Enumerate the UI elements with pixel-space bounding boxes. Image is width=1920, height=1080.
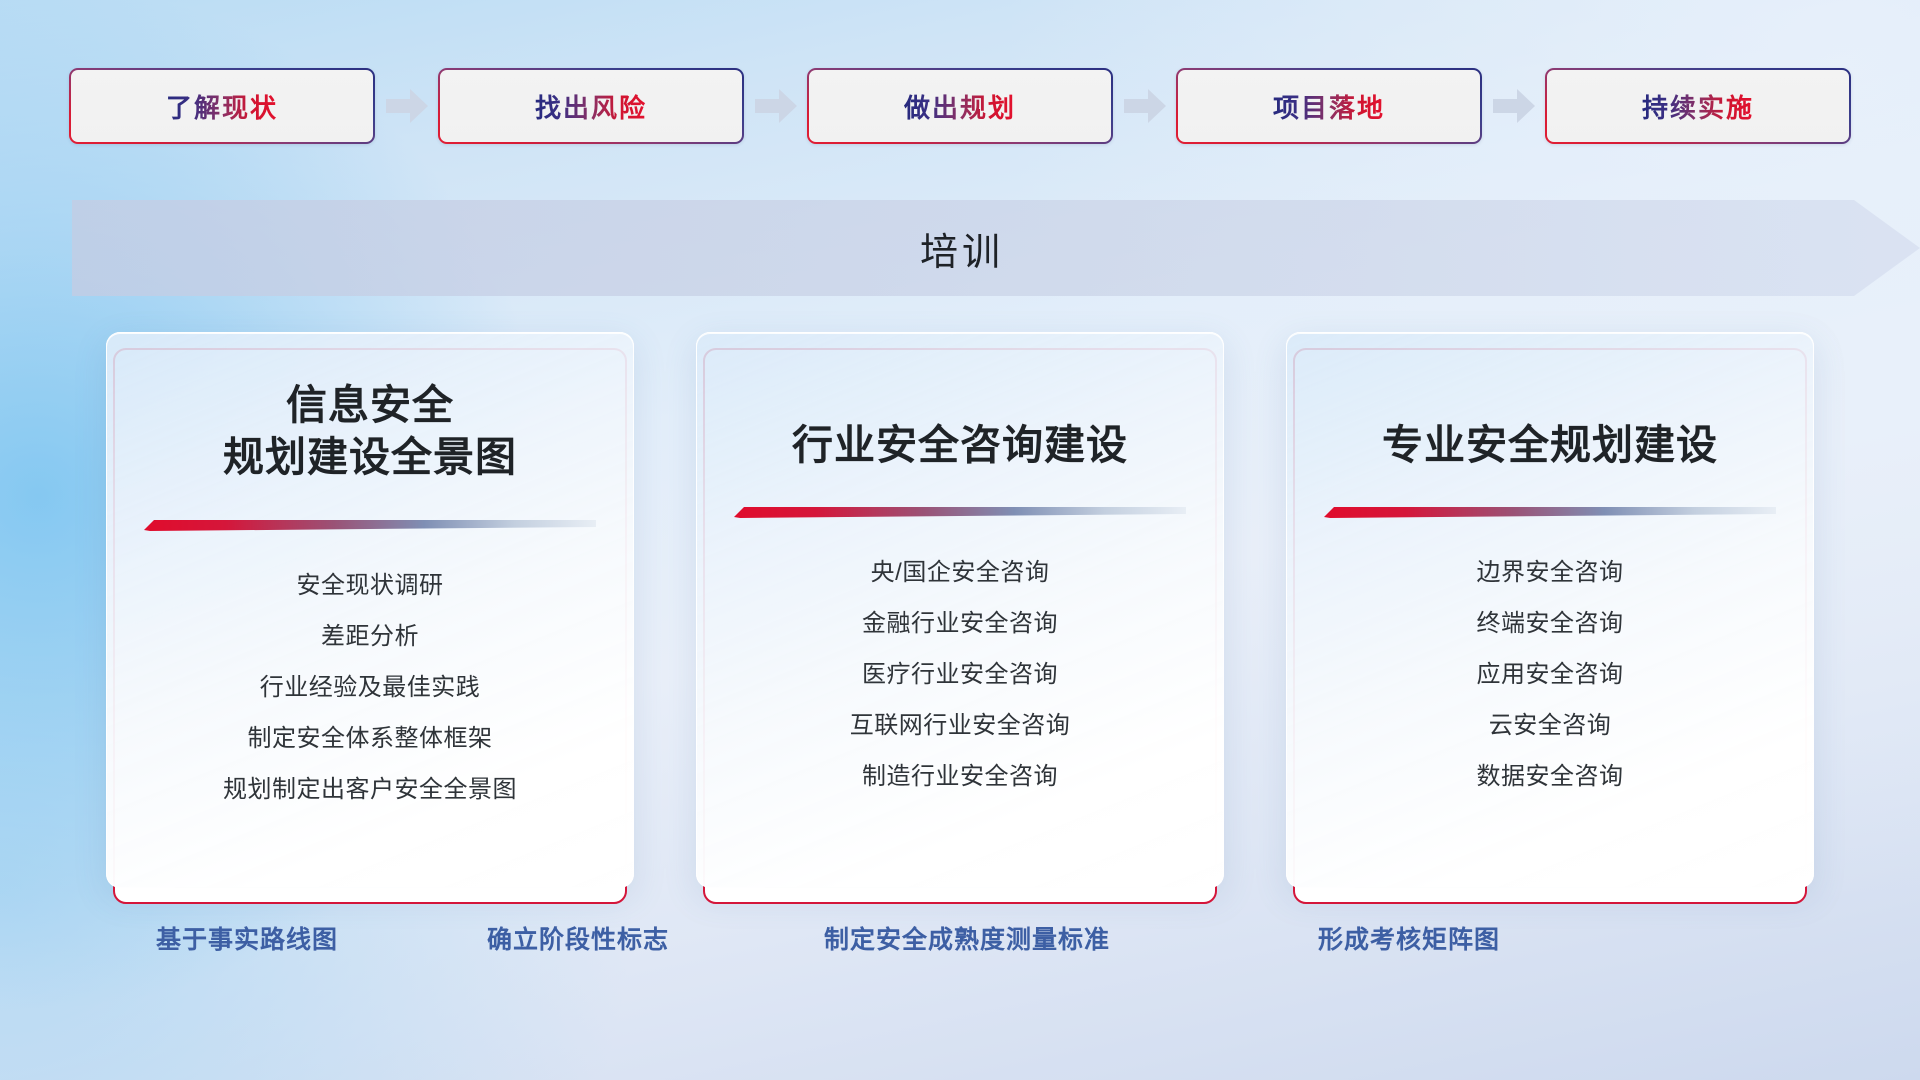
right-arrow-icon: [1113, 68, 1176, 144]
card-divider: [1324, 501, 1776, 523]
list-item: 行业经验及最佳实践: [260, 662, 481, 713]
process-step-label: 找出风险: [535, 88, 647, 125]
process-step-4[interactable]: 项目落地: [1176, 68, 1482, 144]
card-title-line: 行业安全咨询建设: [792, 419, 1128, 471]
slide-canvas: 了解现状 找出风险 做出规划 项目落地 持续实施: [0, 0, 1920, 1080]
right-arrow-icon: [1482, 68, 1545, 144]
right-arrow-icon: [375, 68, 438, 144]
footnote-1: 基于事实路线图: [156, 920, 338, 956]
card-title-line: 规划建设全景图: [223, 431, 517, 483]
list-item: 差距分析: [321, 611, 419, 662]
process-step-label: 做出规划: [904, 88, 1016, 125]
list-item: 互联网行业安全咨询: [850, 700, 1071, 751]
card-title: 信息安全 规划建设全景图: [223, 379, 517, 484]
card-face: 专业安全规划建设: [1286, 332, 1814, 888]
list-item: 应用安全咨询: [1477, 649, 1624, 700]
card-row: 信息安全 规划建设全景图: [0, 332, 1920, 888]
card-item-list: 边界安全咨询 终端安全咨询 应用安全咨询 云安全咨询 数据安全咨询: [1477, 547, 1624, 802]
list-item: 制定安全体系整体框架: [248, 713, 493, 764]
list-item: 数据安全咨询: [1477, 751, 1624, 802]
footnote-row: 基于事实路线图 确立阶段性标志 制定安全成熟度测量标准 形成考核矩阵图: [0, 920, 1920, 960]
list-item: 央/国企安全咨询: [871, 547, 1050, 598]
training-banner: 培训: [72, 200, 1920, 296]
card-title-line: 专业安全规划建设: [1382, 419, 1718, 471]
card-divider: [144, 514, 596, 536]
card-title-line: 信息安全: [223, 379, 517, 431]
list-item: 制造行业安全咨询: [862, 751, 1058, 802]
card-title: 行业安全咨询建设: [792, 419, 1128, 471]
card-face: 信息安全 规划建设全景图: [106, 332, 634, 888]
card-2[interactable]: 行业安全咨询建设: [696, 332, 1224, 888]
list-item: 边界安全咨询: [1477, 547, 1624, 598]
card-title: 专业安全规划建设: [1382, 419, 1718, 471]
process-step-5[interactable]: 持续实施: [1545, 68, 1851, 144]
card-3[interactable]: 专业安全规划建设: [1286, 332, 1814, 888]
list-item: 终端安全咨询: [1477, 598, 1624, 649]
process-step-label: 项目落地: [1273, 88, 1385, 125]
card-item-list: 央/国企安全咨询 金融行业安全咨询 医疗行业安全咨询 互联网行业安全咨询 制造行…: [850, 547, 1071, 802]
footnote-4: 形成考核矩阵图: [1318, 920, 1500, 956]
right-arrow-icon: [744, 68, 807, 144]
process-step-label: 了解现状: [166, 88, 278, 125]
process-step-1[interactable]: 了解现状: [69, 68, 375, 144]
list-item: 医疗行业安全咨询: [862, 649, 1058, 700]
process-step-row: 了解现状 找出风险 做出规划 项目落地 持续实施: [0, 66, 1920, 146]
process-step-2[interactable]: 找出风险: [438, 68, 744, 144]
list-item: 金融行业安全咨询: [862, 598, 1058, 649]
banner-title: 培训: [72, 200, 1852, 296]
card-face: 行业安全咨询建设: [696, 332, 1224, 888]
list-item: 安全现状调研: [297, 560, 444, 611]
card-item-list: 安全现状调研 差距分析 行业经验及最佳实践 制定安全体系整体框架 规划制定出客户…: [223, 560, 517, 815]
process-step-3[interactable]: 做出规划: [807, 68, 1113, 144]
footnote-3: 制定安全成熟度测量标准: [824, 920, 1110, 956]
card-divider: [734, 501, 1186, 523]
process-step-label: 持续实施: [1642, 88, 1754, 125]
card-1[interactable]: 信息安全 规划建设全景图: [106, 332, 634, 888]
list-item: 云安全咨询: [1489, 700, 1612, 751]
list-item: 规划制定出客户安全全景图: [223, 764, 517, 815]
footnote-2: 确立阶段性标志: [487, 920, 669, 956]
